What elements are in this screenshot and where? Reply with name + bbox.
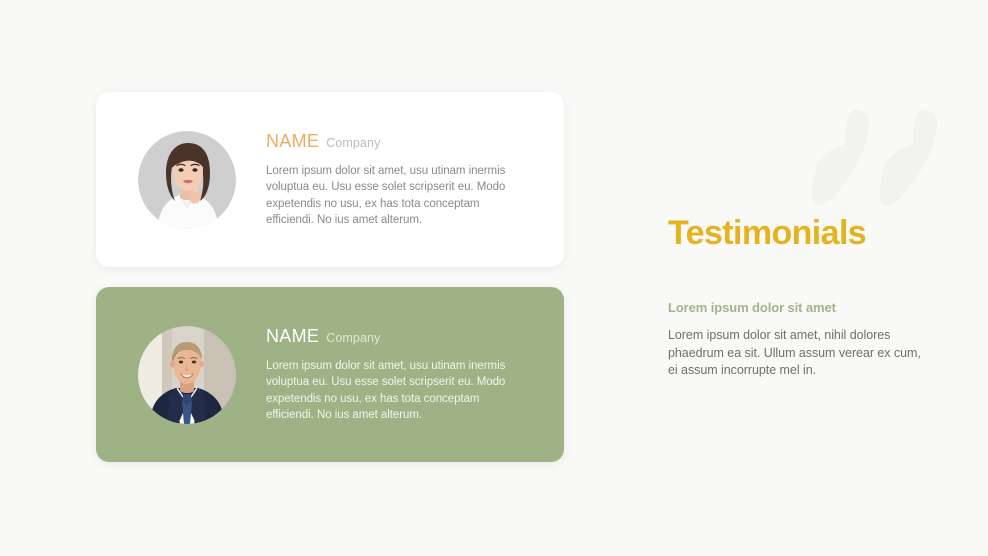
testimonial-card[interactable]: NAME Company Lorem ipsum dolor sit amet,… [96, 92, 564, 267]
testimonial-text: NAME Company Lorem ipsum dolor sit amet,… [266, 326, 524, 423]
avatar [138, 326, 236, 424]
testimonials-slide: NAME Company Lorem ipsum dolor sit amet,… [0, 0, 988, 556]
testimonial-card[interactable]: NAME Company Lorem ipsum dolor sit amet,… [96, 287, 564, 462]
person-name: NAME [266, 131, 319, 151]
testimonial-quote: Lorem ipsum dolor sit amet, usu utinam i… [266, 358, 506, 423]
testimonial-text: NAME Company Lorem ipsum dolor sit amet,… [266, 131, 524, 228]
page-title: Testimonials [668, 212, 926, 254]
person-company: Company [326, 331, 380, 346]
person-company: Company [326, 136, 380, 151]
name-row: NAME Company [266, 326, 506, 346]
avatar [138, 131, 236, 229]
person-name: NAME [266, 326, 319, 346]
panel-subtitle: Lorem ipsum dolor sit amet [668, 254, 926, 316]
panel-body-text: Lorem ipsum dolor sit amet, nihil dolore… [668, 316, 926, 380]
double-quote-mark-icon [796, 100, 946, 208]
right-panel: Testimonials Lorem ipsum dolor sit amet … [668, 212, 926, 380]
testimonial-quote: Lorem ipsum dolor sit amet, usu utinam i… [266, 163, 506, 228]
name-row: NAME Company [266, 131, 506, 151]
